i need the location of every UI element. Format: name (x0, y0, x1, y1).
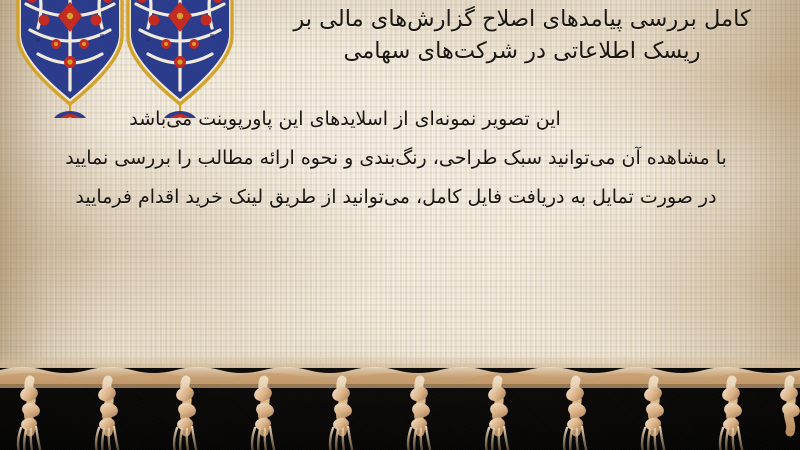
presentation-slide: کامل بررسی پیامدهای اصلاح گزارش‌های مالی… (0, 0, 800, 450)
slide-body: این تصویر نمونه‌ای از اسلایدهای این پاور… (0, 108, 800, 208)
slide-title: کامل بررسی پیامدهای اصلاح گزارش‌های مالی… (262, 4, 782, 68)
carpet-fringe (0, 354, 800, 450)
slide-title-line-1: کامل بررسی پیامدهای اصلاح گزارش‌های مالی… (293, 6, 750, 32)
body-line-3: در صورت تمایل به دریافت فایل کامل، می‌تو… (0, 186, 800, 208)
fringe-tassels-icon (0, 354, 800, 450)
body-line-1: این تصویر نمونه‌ای از اسلایدهای این پاور… (0, 108, 800, 130)
persian-carpet-medallion-icon-2 (122, 0, 238, 118)
carpet-medallion-group (0, 0, 250, 115)
body-line-2: با مشاهده آن می‌توانید سبک طراحی، رنگ‌بن… (0, 147, 800, 169)
slide-title-line-2: ریسک اطلاعاتی در شرکت‌های سهامی (343, 38, 700, 64)
persian-carpet-medallion-icon-1 (12, 0, 128, 118)
